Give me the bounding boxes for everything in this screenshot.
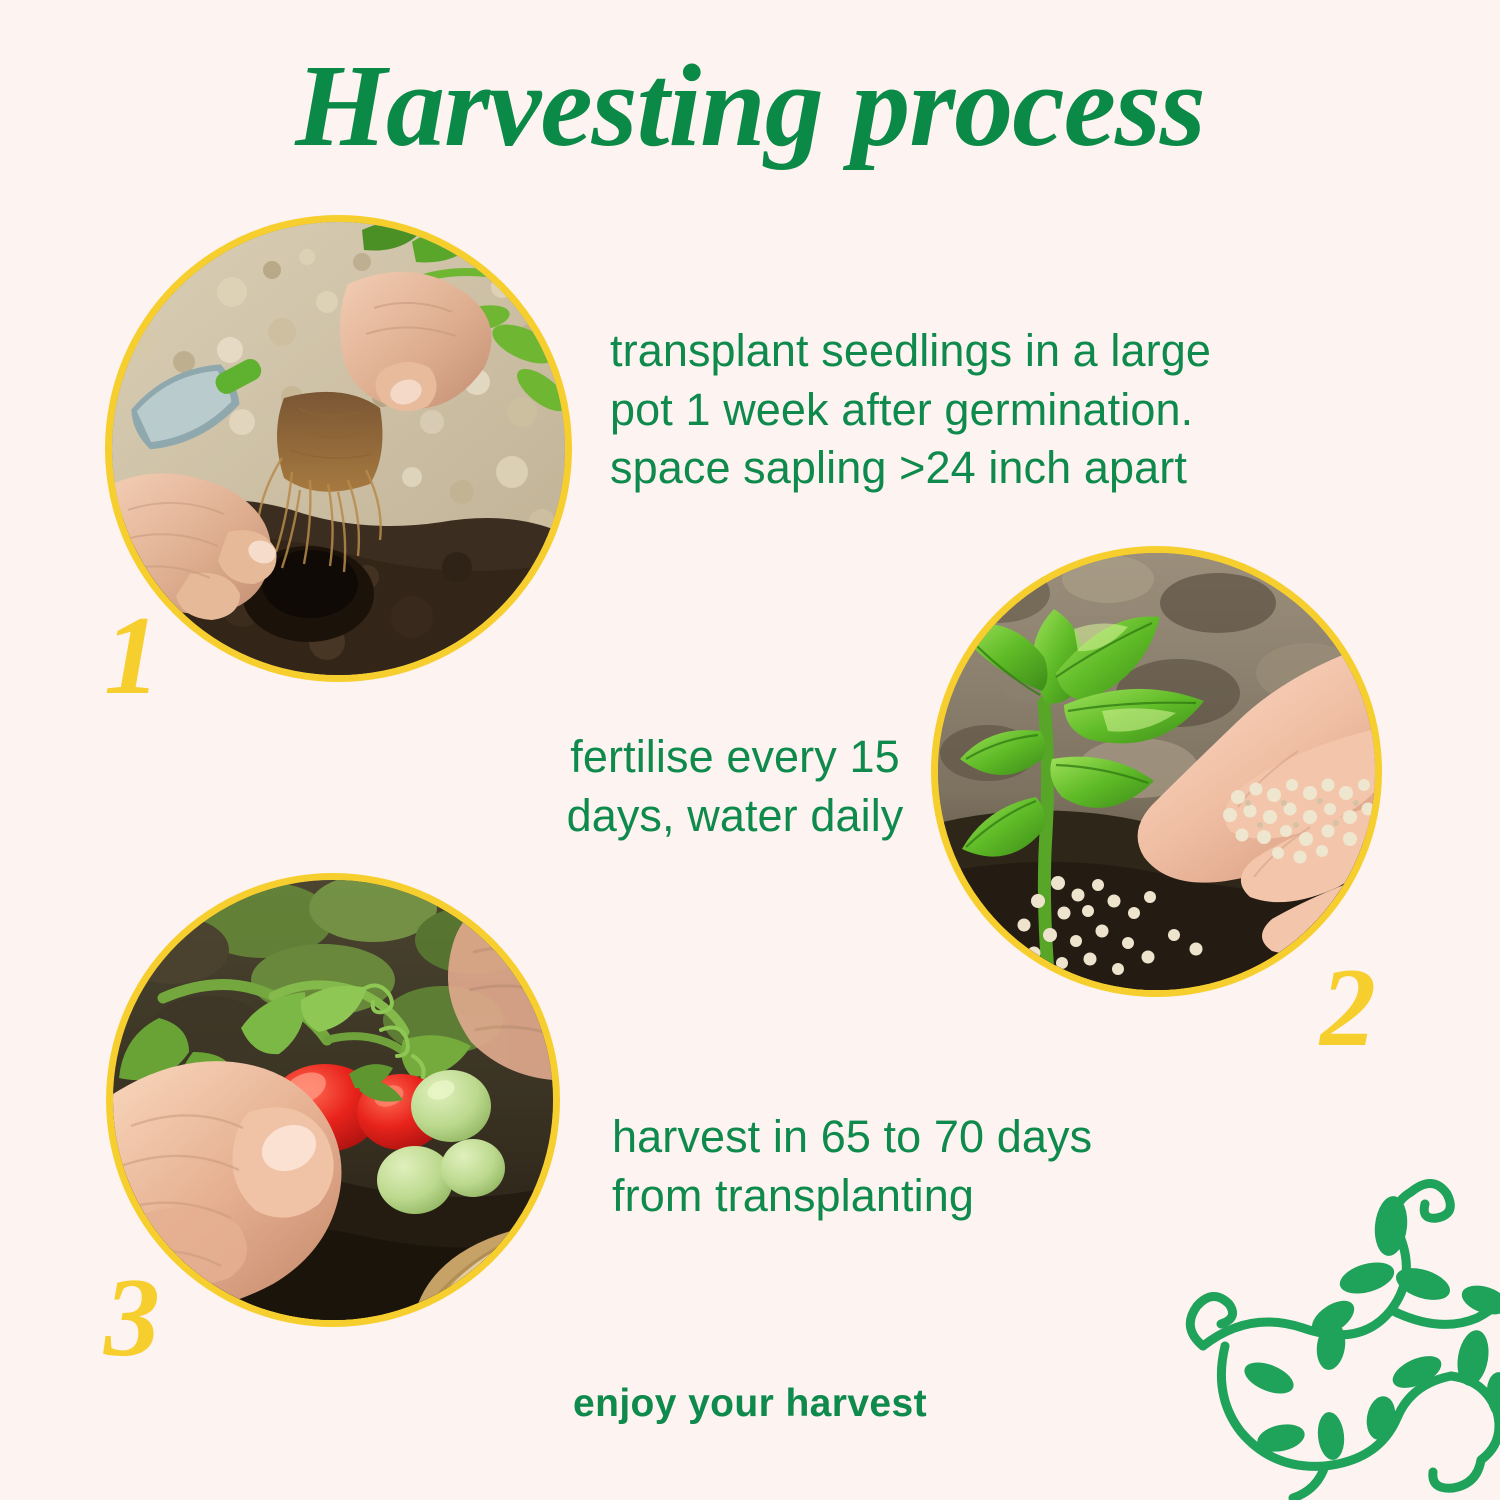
step-3-photo [113, 880, 553, 1320]
step-1-number: 1 [104, 600, 160, 712]
step-1-photo [112, 222, 565, 675]
infographic-canvas: Harvesting process [0, 0, 1500, 1500]
page-title: Harvesting process [0, 38, 1500, 174]
step-1-illustration [112, 222, 565, 675]
step-3-number: 3 [104, 1262, 160, 1374]
step-3-caption: harvest in 65 to 70 days from transplant… [612, 1108, 1132, 1225]
step-2-caption: fertilise every 15 days, water daily [545, 728, 925, 845]
step-2-number: 2 [1320, 952, 1376, 1064]
step-1-caption: transplant seedlings in a large pot 1 we… [610, 322, 1270, 498]
footer-text: enjoy your harvest [0, 1382, 1500, 1426]
vine-icon [1185, 1150, 1500, 1500]
step-3-illustration [113, 880, 553, 1320]
step-2-photo [938, 553, 1375, 990]
vine-decoration [1185, 1150, 1500, 1500]
step-2-illustration [938, 553, 1375, 990]
